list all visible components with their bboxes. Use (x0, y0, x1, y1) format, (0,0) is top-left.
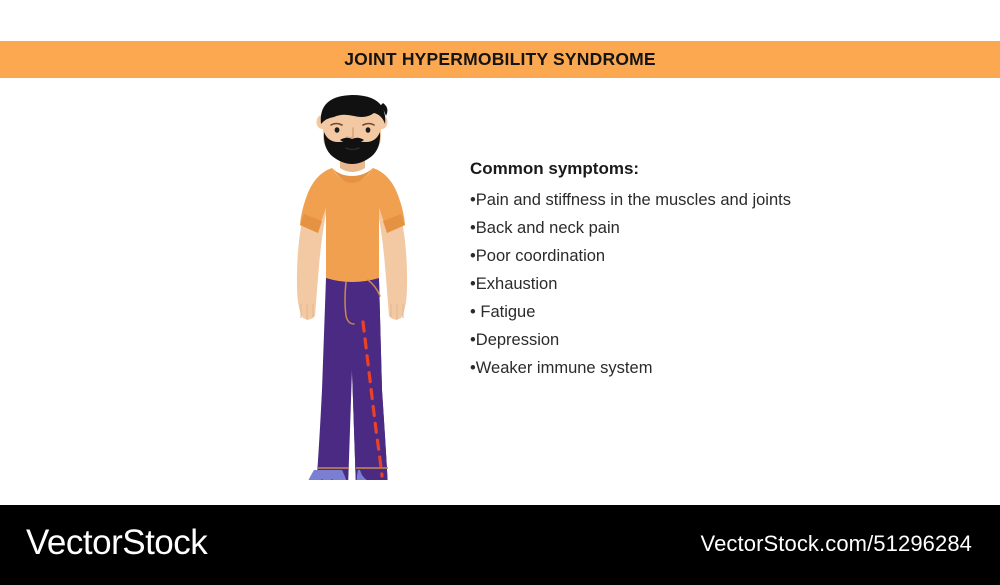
eye-right-icon (366, 127, 371, 133)
symptoms-heading: Common symptoms: (470, 158, 930, 180)
shoe-left-icon (306, 470, 349, 480)
list-item: •Poor coordination (470, 242, 930, 270)
illustration-standing-man (270, 90, 435, 480)
poster-canvas: JOINT HYPERMOBILITY SYNDROME (0, 0, 1000, 585)
list-item: •Depression (470, 326, 930, 354)
symptoms-panel: Common symptoms: •Pain and stiffness in … (470, 158, 930, 382)
list-item: •Back and neck pain (470, 214, 930, 242)
man-figure-svg (270, 90, 435, 480)
list-item: •Exhaustion (470, 270, 930, 298)
list-item: •Pain and stiffness in the muscles and j… (470, 186, 930, 214)
vectorstock-url: VectorStock.com/51296284 (701, 531, 972, 557)
header-band: JOINT HYPERMOBILITY SYNDROME (0, 41, 1000, 78)
vectorstock-logo: VectorStock (26, 523, 207, 563)
footer-watermark-bar: VectorStock VectorStock.com/51296284 (0, 505, 1000, 585)
list-item: • Fatigue (470, 298, 930, 326)
symptoms-list: •Pain and stiffness in the muscles and j… (470, 186, 930, 382)
eye-left-icon (335, 127, 340, 133)
page-title: JOINT HYPERMOBILITY SYNDROME (344, 49, 656, 70)
list-item: •Weaker immune system (470, 354, 930, 382)
